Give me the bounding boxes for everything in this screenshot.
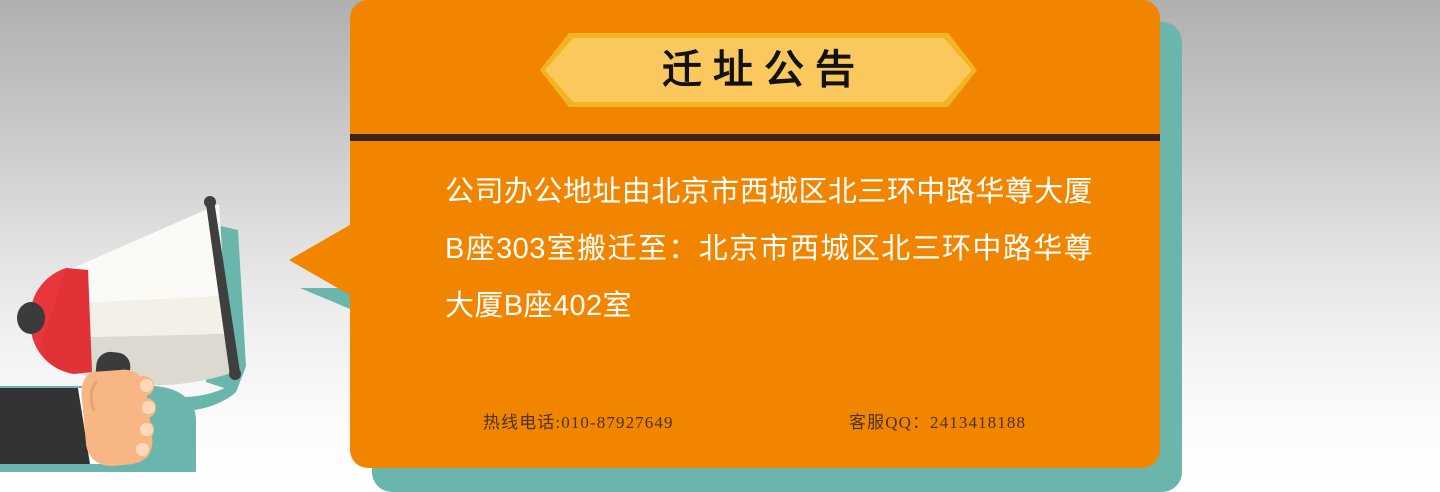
title-badge: 迁址公告 [540, 33, 977, 107]
hand [81, 370, 156, 466]
megaphone-body [17, 268, 92, 374]
megaphone-illustration [0, 176, 320, 492]
speech-tail [289, 222, 355, 298]
page-title: 迁址公告 [540, 33, 977, 107]
hotline-phone: 热线电话:010-87927649 [483, 408, 674, 433]
announcement-banner: 迁址公告 公司办公地址由北京市西城区北三环中路华尊大厦B座303室搬迁至：北京市… [0, 0, 1440, 492]
announcement-body: 公司办公地址由北京市西城区北三环中路华尊大厦B座303室搬迁至：北京市西城区北三… [445, 164, 1093, 335]
title-divider [350, 134, 1160, 141]
customer-service-qq: 客服QQ：2413418188 [849, 408, 1026, 433]
contact-footer: 热线电话:010-87927649 客服QQ：2413418188 [350, 408, 1160, 438]
